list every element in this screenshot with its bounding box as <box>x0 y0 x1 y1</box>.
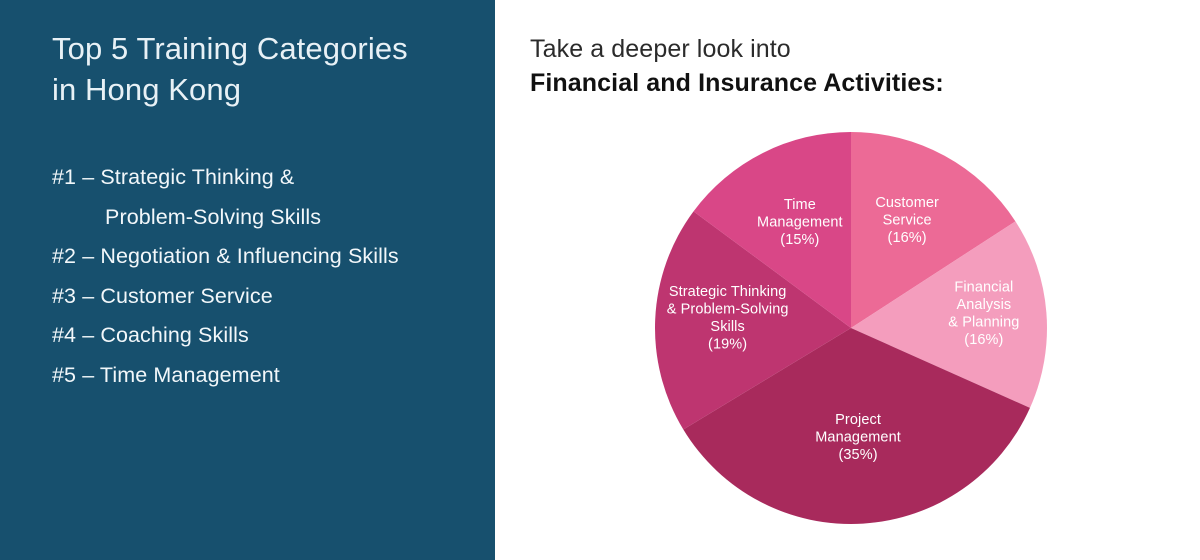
pie-chart: CustomerService(16%)FinancialAnalysis& P… <box>655 132 1047 524</box>
list-item: #2 – Negotiation & Influencing Skills <box>52 237 482 277</box>
ranking-list: #1 – Strategic Thinking & Problem-Solvin… <box>52 158 482 395</box>
right-panel: Take a deeper look into Financial and In… <box>495 0 1200 560</box>
left-panel: Top 5 Training Categories in Hong Kong #… <box>0 0 495 560</box>
list-item: #3 – Customer Service <box>52 277 482 317</box>
list-item-label: #1 – Strategic Thinking & <box>52 165 294 189</box>
pie-chart-svg: CustomerService(16%)FinancialAnalysis& P… <box>655 132 1047 524</box>
slide-canvas: Top 5 Training Categories in Hong Kong #… <box>0 0 1200 560</box>
page-title-line2: in Hong Kong <box>52 69 452 110</box>
page-title-line1: Top 5 Training Categories <box>52 28 452 69</box>
section-heading-line2: Financial and Insurance Activities: <box>530 66 1170 100</box>
list-item: #4 – Coaching Skills <box>52 316 482 356</box>
list-item: #5 – Time Management <box>52 356 482 396</box>
section-heading-line1: Take a deeper look into <box>530 32 1170 66</box>
section-heading: Take a deeper look into Financial and In… <box>530 32 1170 100</box>
list-item-continuation: Problem-Solving Skills <box>52 198 482 238</box>
list-item: #1 – Strategic Thinking & Problem-Solvin… <box>52 158 482 237</box>
page-title: Top 5 Training Categories in Hong Kong <box>52 28 452 110</box>
